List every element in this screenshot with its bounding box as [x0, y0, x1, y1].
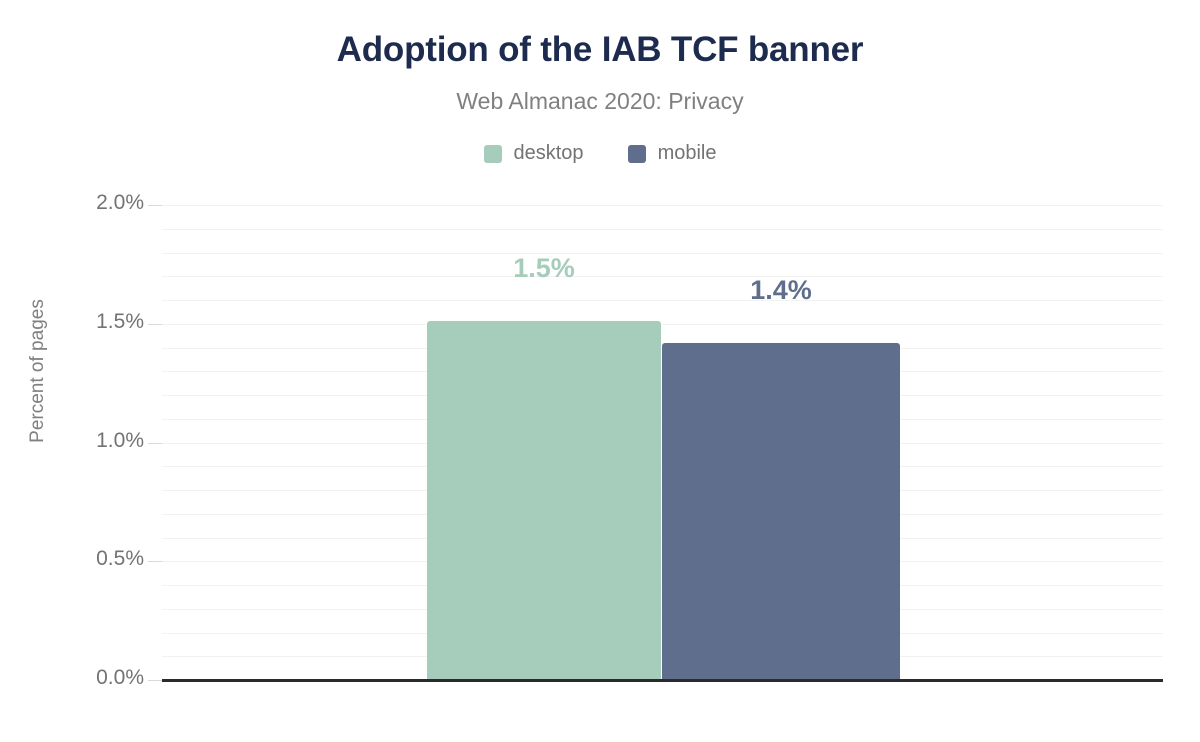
y-tick-label: 1.0%: [4, 429, 144, 453]
legend-label-mobile: mobile: [658, 142, 717, 165]
y-tick-label: 0.0%: [4, 666, 144, 690]
legend-swatch-desktop: [484, 145, 502, 163]
y-tick-mark: [148, 324, 162, 325]
legend-swatch-mobile: [628, 145, 646, 163]
page-title: Adoption of the IAB TCF banner: [0, 30, 1200, 70]
chart-figure: Adoption of the IAB TCF banner Web Alman…: [0, 0, 1200, 742]
legend-item-desktop[interactable]: desktop: [484, 142, 584, 165]
y-tick-mark: [148, 205, 162, 206]
chart-subtitle: Web Almanac 2020: Privacy: [0, 88, 1200, 115]
legend-label-desktop: desktop: [514, 142, 584, 165]
chart-legend: desktop mobile: [0, 142, 1200, 165]
plot-area: 1.5%1.4%: [162, 205, 1163, 680]
bar-value-label-mobile: 1.4%: [662, 275, 900, 306]
y-tick-label: 2.0%: [4, 191, 144, 215]
bar-mobile[interactable]: [662, 343, 900, 680]
y-tick-mark: [148, 443, 162, 444]
bar-value-label-desktop: 1.5%: [427, 253, 661, 284]
y-tick-label: 1.5%: [4, 310, 144, 334]
y-tick-mark: [148, 680, 162, 681]
y-tick-label: 0.5%: [4, 547, 144, 571]
x-axis-line: [162, 679, 1163, 682]
y-tick-mark: [148, 561, 162, 562]
legend-item-mobile[interactable]: mobile: [628, 142, 717, 165]
y-axis-title: Percent of pages: [18, 0, 58, 742]
bar-desktop[interactable]: [427, 321, 661, 680]
